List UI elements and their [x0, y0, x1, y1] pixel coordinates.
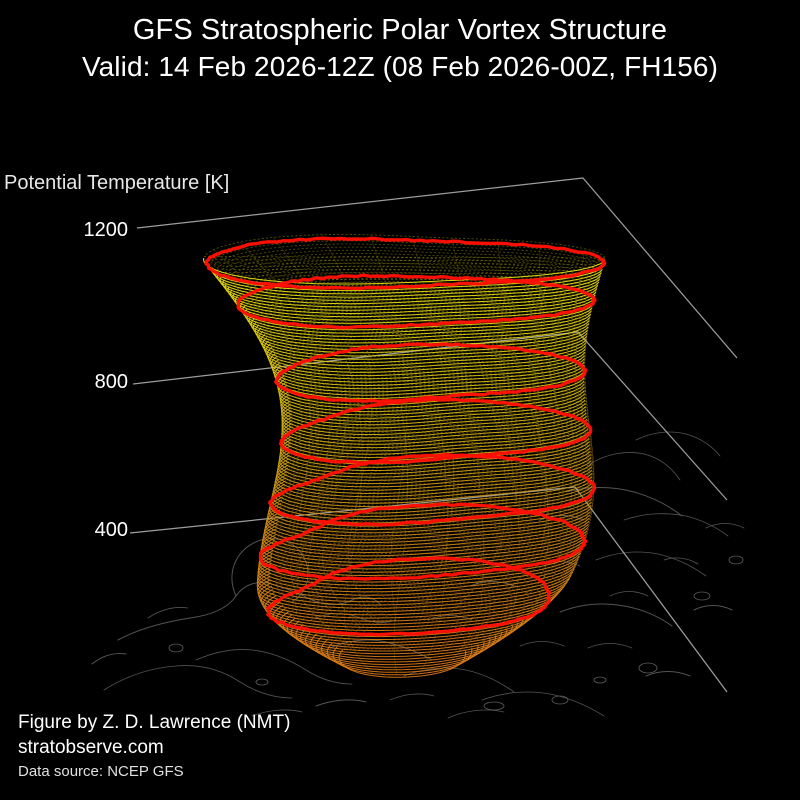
figure-canvas: GFS Stratospheric Polar Vortex Structure…: [0, 0, 800, 800]
credit-author: Figure by Z. D. Lawrence (NMT): [18, 712, 290, 734]
credit-website: stratobserve.com: [18, 737, 164, 759]
credit-data-source: Data source: NCEP GFS: [18, 763, 184, 780]
vortex-3d-scene: [0, 0, 800, 800]
axis-frame-layer: [130, 178, 737, 692]
